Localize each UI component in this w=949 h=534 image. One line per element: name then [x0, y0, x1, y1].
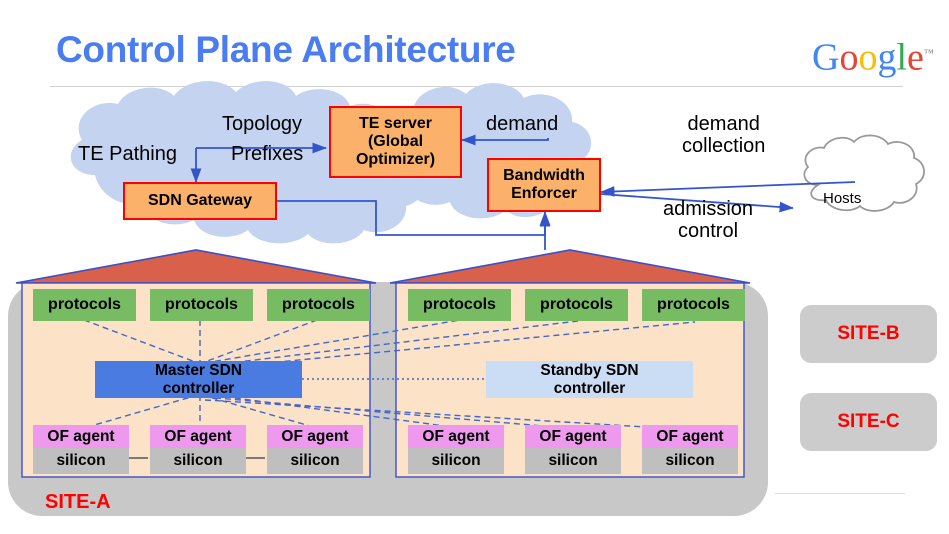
master-sdn-controller-label: Master SDN controller — [155, 362, 242, 397]
silicon-box-l3[interactable]: silicon — [267, 448, 363, 474]
te-server-label: TE server (Global Optimizer) — [356, 115, 435, 169]
silicon-label: silicon — [56, 452, 105, 469]
of-agent-box-r2[interactable]: OF agent — [525, 425, 621, 448]
of-agent-label: OF agent — [281, 428, 348, 445]
demand-label: demand — [486, 113, 558, 135]
silicon-label: silicon — [290, 452, 339, 469]
te-pathing-label: TE Pathing — [78, 143, 177, 165]
silicon-box-r3[interactable]: silicon — [642, 448, 738, 474]
topology-label: Topology — [222, 113, 302, 135]
sdn-gateway-label: SDN Gateway — [148, 192, 252, 210]
protocols-box-r2[interactable]: protocols — [525, 289, 628, 321]
silicon-label: silicon — [665, 452, 714, 469]
site-b-label: SITE-B — [837, 323, 899, 344]
of-agent-box-l2[interactable]: OF agent — [150, 425, 246, 448]
of-agent-box-r3[interactable]: OF agent — [642, 425, 738, 448]
silicon-label: silicon — [548, 452, 597, 469]
hosts-cloud-label: Hosts — [823, 190, 861, 207]
site-c-label: SITE-C — [837, 411, 899, 432]
silicon-box-r1[interactable]: silicon — [408, 448, 504, 474]
of-agent-label: OF agent — [164, 428, 231, 445]
of-agent-box-l3[interactable]: OF agent — [267, 425, 363, 448]
of-agent-label: OF agent — [47, 428, 114, 445]
silicon-box-l2[interactable]: silicon — [150, 448, 246, 474]
sdn-gateway-box[interactable]: SDN Gateway — [123, 182, 277, 220]
prefixes-label: Prefixes — [231, 143, 303, 165]
standby-sdn-controller-label: Standby SDN controller — [540, 362, 638, 397]
slide-root: Control Plane Architecture Google™ — [0, 0, 949, 534]
protocols-box-l2[interactable]: protocols — [150, 289, 253, 321]
protocols-label: protocols — [540, 296, 613, 314]
of-agent-box-l1[interactable]: OF agent — [33, 425, 129, 448]
of-agent-label: OF agent — [422, 428, 489, 445]
standby-sdn-controller-box[interactable]: Standby SDN controller — [486, 361, 693, 398]
protocols-box-r1[interactable]: protocols — [408, 289, 511, 321]
protocols-label: protocols — [657, 296, 730, 314]
site-a-label: SITE-A — [45, 491, 111, 514]
protocols-label: protocols — [165, 296, 238, 314]
protocols-box-l1[interactable]: protocols — [33, 289, 136, 321]
protocols-box-l3[interactable]: protocols — [267, 289, 370, 321]
of-agent-label: OF agent — [656, 428, 723, 445]
site-b-pill[interactable]: SITE-B — [800, 305, 937, 363]
protocols-label: protocols — [423, 296, 496, 314]
demand-collection-label: demand collection — [682, 113, 765, 158]
bandwidth-enforcer-label: Bandwidth Enforcer — [503, 167, 585, 203]
of-agent-label: OF agent — [539, 428, 606, 445]
protocols-label: protocols — [48, 296, 121, 314]
bandwidth-enforcer-box[interactable]: Bandwidth Enforcer — [487, 158, 601, 212]
admission-control-label: admission control — [663, 198, 753, 243]
protocols-label: protocols — [282, 296, 355, 314]
site-c-pill[interactable]: SITE-C — [800, 393, 937, 451]
te-server-box[interactable]: TE server (Global Optimizer) — [329, 106, 462, 178]
silicon-label: silicon — [431, 452, 480, 469]
of-agent-box-r1[interactable]: OF agent — [408, 425, 504, 448]
silicon-box-l1[interactable]: silicon — [33, 448, 129, 474]
master-sdn-controller-box[interactable]: Master SDN controller — [95, 361, 302, 398]
protocols-box-r3[interactable]: protocols — [642, 289, 745, 321]
silicon-box-r2[interactable]: silicon — [525, 448, 621, 474]
silicon-label: silicon — [173, 452, 222, 469]
